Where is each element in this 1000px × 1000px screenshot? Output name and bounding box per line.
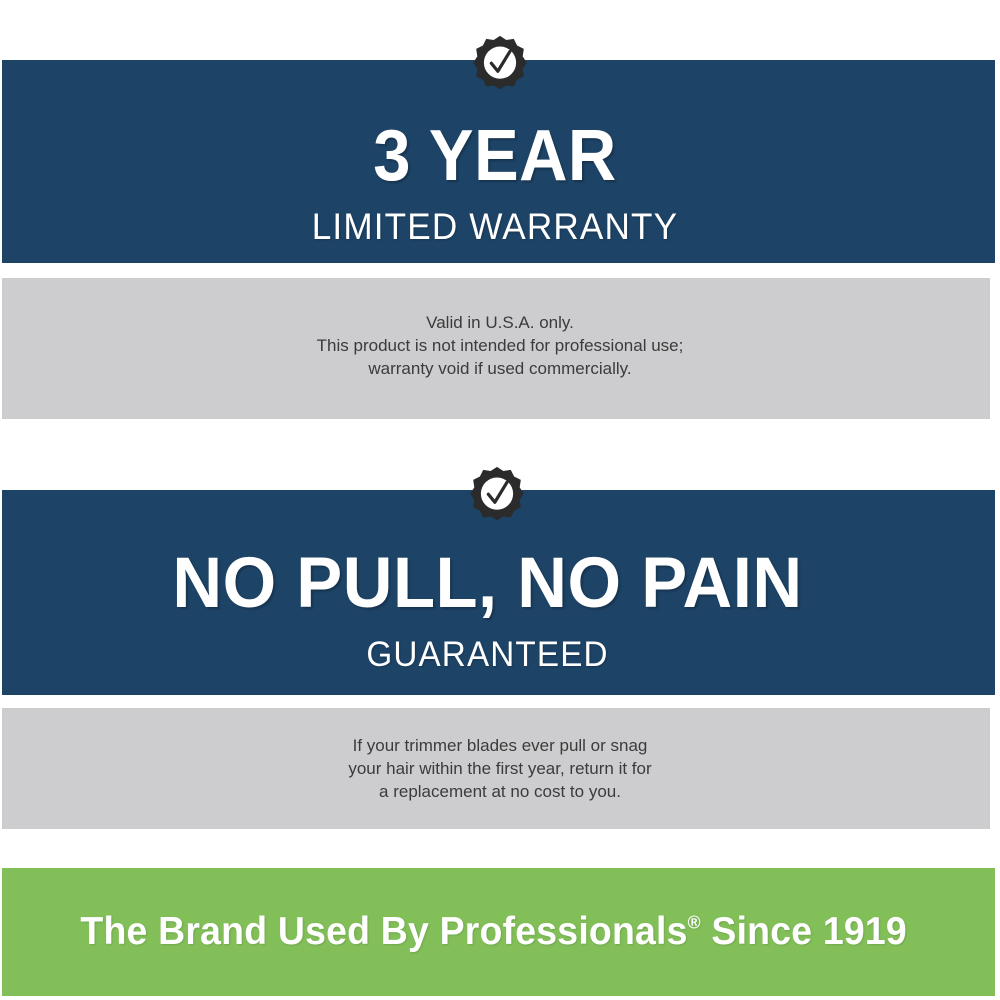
warranty-fineprint-line-1: Valid in U.S.A. only.	[0, 311, 1000, 334]
guarantee-headline-block: NO PULL, NO PAIN GUARANTEED	[0, 548, 975, 672]
check-badge-icon	[466, 466, 528, 528]
warranty-fineprint-line-2: This product is not intended for profess…	[0, 334, 1000, 357]
guarantee-fineprint-line-3: a replacement at no cost to you.	[0, 780, 1000, 803]
warranty-fineprint-line-3: warranty void if used commercially.	[0, 357, 1000, 380]
guarantee-fineprint-line-2: your hair within the first year, return …	[0, 757, 1000, 780]
brand-tagline: The Brand Used By Professionals® Since 1…	[80, 910, 907, 954]
guarantee-fineprint: If your trimmer blades ever pull or snag…	[0, 734, 1000, 803]
check-badge-icon	[469, 35, 531, 97]
guarantee-subline: GUARANTEED	[24, 637, 950, 672]
guarantee-headline: NO PULL, NO PAIN	[15, 548, 961, 619]
guarantee-fineprint-line-1: If your trimmer blades ever pull or snag	[0, 734, 1000, 757]
registered-trademark-icon: ®	[688, 911, 701, 932]
brand-tagline-bar: The Brand Used By Professionals® Since 1…	[2, 868, 995, 996]
promo-banner: 3 YEAR LIMITED WARRANTY Valid in U.S.A. …	[0, 0, 1000, 1000]
warranty-headline-block: 3 YEAR LIMITED WARRANTY	[0, 120, 990, 245]
brand-tagline-text: The Brand Used By Professionals	[80, 910, 687, 953]
warranty-subline: LIMITED WARRANTY	[25, 208, 966, 245]
warranty-headline: 3 YEAR	[35, 120, 956, 192]
brand-tagline-year: Since 1919	[701, 910, 907, 953]
warranty-fineprint: Valid in U.S.A. only. This product is no…	[0, 311, 1000, 380]
